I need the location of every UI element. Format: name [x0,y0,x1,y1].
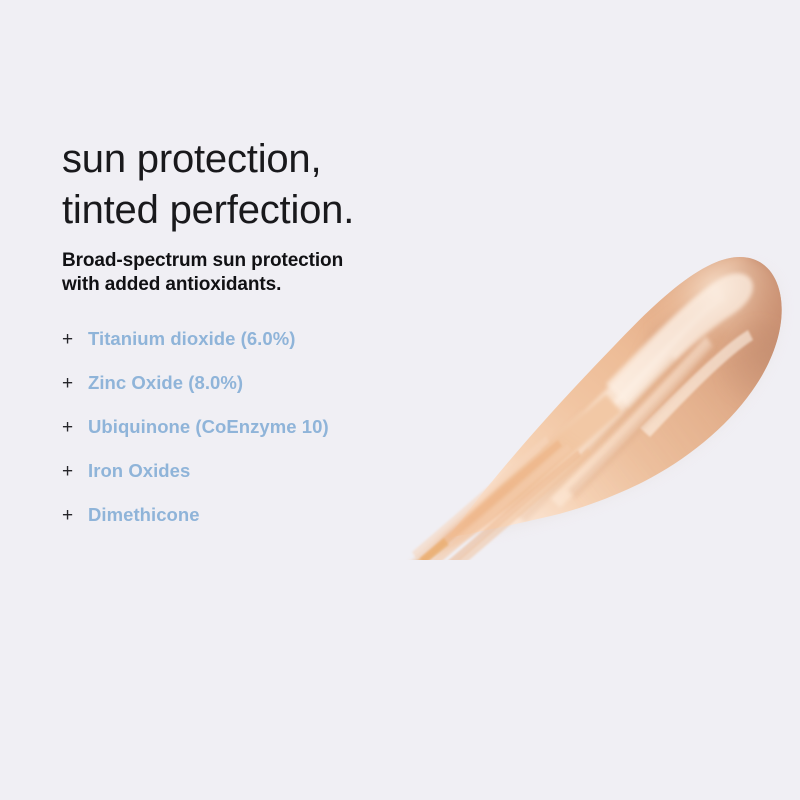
tinted-sunscreen-swatch-icon [400,160,800,560]
ingredient-list: + Titanium dioxide (6.0%) + Zinc Oxide (… [62,330,442,550]
product-callout-canvas: sun protection, tinted perfection. Broad… [0,0,800,800]
ingredient-label: Ubiquinone (CoEnzyme 10) [88,418,329,437]
ingredient-label: Zinc Oxide (8.0%) [88,374,243,393]
list-item: + Iron Oxides [62,462,442,506]
list-item: + Titanium dioxide (6.0%) [62,330,442,374]
list-item: + Ubiquinone (CoEnzyme 10) [62,418,442,462]
plus-icon: + [62,418,88,437]
subheading: Broad-spectrum sun protection with added… [62,249,442,296]
list-item: + Zinc Oxide (8.0%) [62,374,442,418]
ingredient-label: Titanium dioxide (6.0%) [88,330,295,349]
plus-icon: + [62,330,88,349]
ingredient-label: Iron Oxides [88,462,190,481]
plus-icon: + [62,462,88,481]
plus-icon: + [62,506,88,525]
swatch-container [400,160,800,560]
plus-icon: + [62,374,88,393]
text-column: sun protection, tinted perfection. Broad… [62,134,442,296]
ingredient-label: Dimethicone [88,506,200,525]
page-title: sun protection, tinted perfection. [62,134,442,236]
list-item: + Dimethicone [62,506,442,550]
